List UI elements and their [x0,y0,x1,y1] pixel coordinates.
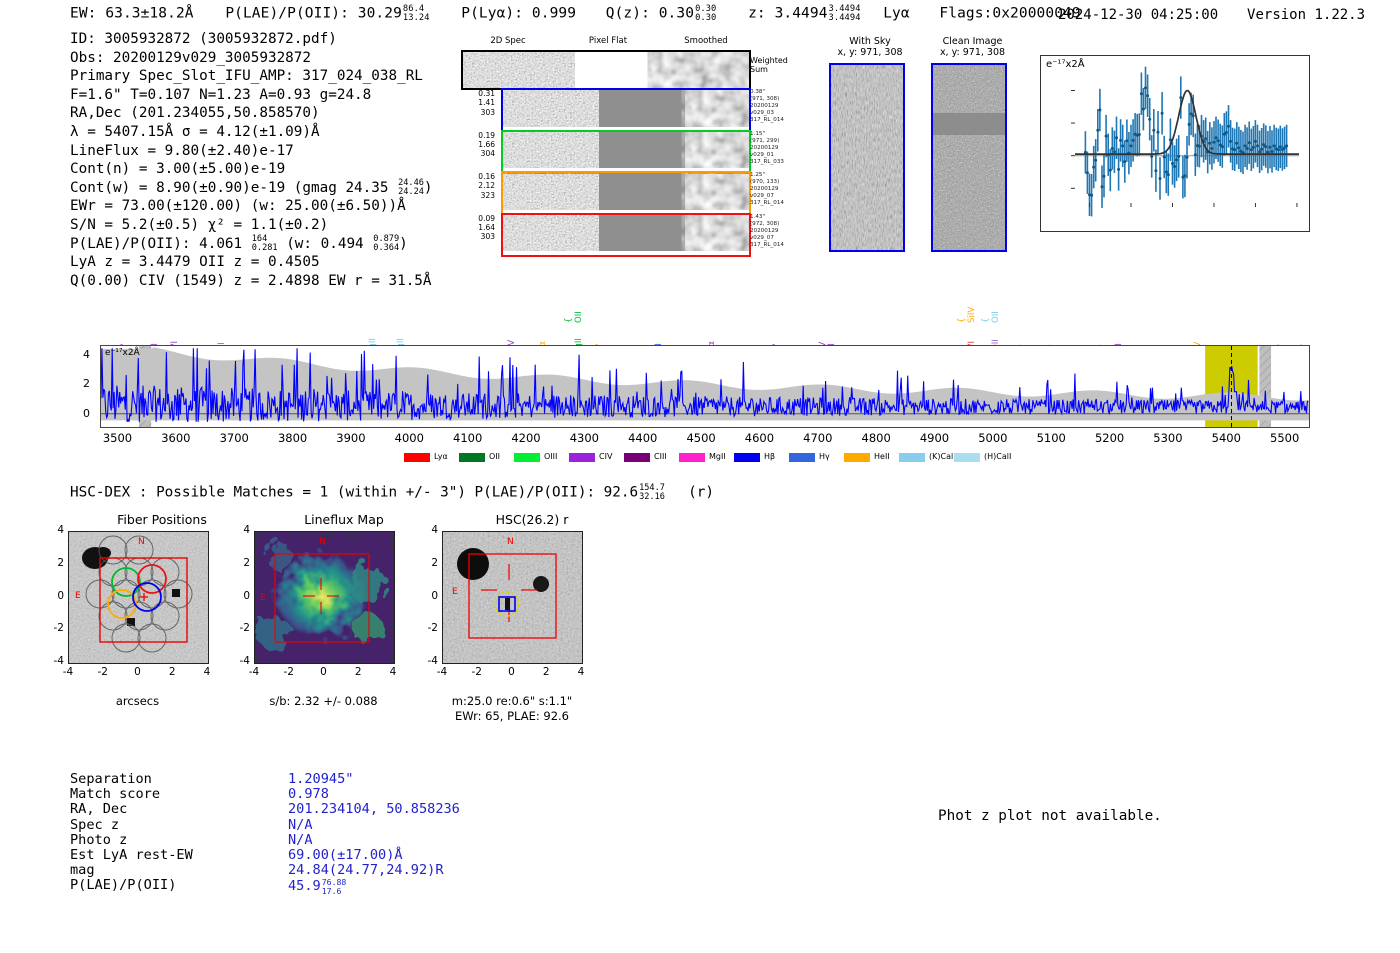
table-row-key: mag [70,863,95,878]
svg-text:E: E [260,593,266,603]
spectrum-x-tick: 4800 [854,431,898,445]
spec2d-row-stat: 303 [461,232,495,241]
elp-tick-labels: -1012536053805400542054405460 [1000,55,1340,255]
spectrum-x-tick: 3900 [329,431,373,445]
panel-y-tick: -4 [230,655,250,667]
header-ew: EW: 63.3±18.2Å [70,6,194,22]
spectrum-y-tick: 2 [74,377,90,390]
cutout-clean-title: Clean Image [925,36,1020,47]
svg-text:N: N [319,537,326,547]
panel-y-tick: 2 [418,557,438,569]
panel-title-fiber-positions: Fiber Positions [62,512,262,527]
spec2d-row-left-labels: 0.162.12323 [461,172,495,200]
panel-x-tick: 2 [344,666,372,678]
info-plae-w-frac: 0.8790.364 [373,235,399,252]
spec2d-row-meta: 20200129 [750,228,820,235]
spec2d-row-stat: 1.41 [461,98,495,107]
col-title-smoothed: Smoothed [660,36,752,46]
spec2d-row-right-labels: 1.43"(972, 308)20200129v029_07317_RL_014 [750,214,820,249]
spectrum-axes: e⁻¹⁷x2Å [100,345,1310,428]
legend-swatch [679,453,705,462]
spec2d-row-meta: 0.38" [750,89,820,96]
source-info-block: ID: 3005932872 (3005932872.pdf) Obs: 202… [70,30,433,290]
summary-header: EW: 63.3±18.2Å P(LAE)/P(OII): 30.2986.41… [70,5,1081,22]
hscdex-match-line: HSC-DEX : Possible Matches = 1 (within +… [70,484,714,501]
spec2d-row-meta: 317_RL_014 [750,242,820,249]
spectrum-x-tick: 4100 [446,431,490,445]
caption-fiber-positions: arcsecs [68,694,207,708]
spec2d-row-right-labels: 0.38"(971, 308)20200129v029_03317_RL_014 [750,89,820,124]
header-plae-frac: 86.413.24 [403,5,430,22]
panel-y-tick: 2 [230,557,250,569]
panel-title-lineflux-map: Lineflux Map [244,512,444,527]
spectrum-x-tick: 5500 [1263,431,1307,445]
hsc-r-image[interactable]: N E [442,531,583,664]
table-row-key: Photo z [70,833,127,848]
cutout-withsky-coords: x, y: 971, 308 [825,47,915,58]
panel-x-tick: 4 [567,666,595,678]
svg-text:N: N [507,537,514,547]
spectrum-line-label: OII [991,311,1001,323]
info-sn-chi2: S/N = 5.2(±0.5) χ² = 1.1(±0.2) [70,216,433,235]
table-row-value: 201.234104, 50.858236 [288,802,460,817]
spec2d-row-right-labels: 1.25"(970, 133)20200129v029_07317_RL_014 [750,172,820,207]
spectrum-x-tick: 4700 [796,431,840,445]
table-row-value: 0.978 [288,787,329,802]
table-row-key: Separation [70,772,152,787]
cutout-withsky-titles: With Sky x, y: 971, 308 [825,36,915,58]
hscdex-frac: 154.732.16 [639,484,665,501]
spec2d-row-meta: v029_07 [750,193,820,200]
spec2d-row-meta: v029_03 [750,110,820,117]
cutout-with-sky-image [829,63,905,252]
cutout-clean-image [931,63,1007,252]
panel-y-tick: -2 [230,622,250,634]
legend-swatch [954,453,980,462]
spectrum-y-tick: 0 [74,407,90,420]
spectrum-line-marker: { [957,318,967,323]
spectrum-line-label: SiIV [967,307,977,323]
spec2d-row-meta: 317_RL_014 [750,200,820,207]
spec2d-row-left-labels: 0.191.66304 [461,131,495,159]
caption-hsc-r-2: EWr: 65, PLAE: 92.6 [432,709,592,723]
svg-text:E: E [452,587,458,597]
info-cont-n: Cont(n) = 3.00(±5.00)e-19 [70,160,433,179]
panel-title-hsc-r: HSC(26.2) r [432,512,632,527]
spectrum-x-tick: 4500 [679,431,723,445]
spectrum-x-tick: 4900 [913,431,957,445]
spec2d-row [501,213,751,257]
table-row-value: N/A [288,833,313,848]
spectrum-x-tick: 4400 [621,431,665,445]
spectrum-x-tick: 4600 [737,431,781,445]
legend-swatch [514,453,540,462]
spectrum-x-tick: 3600 [154,431,198,445]
spec2d-row [501,171,751,215]
hscdex-tail: (r) [688,485,714,501]
info-plae-detail: P(LAE)/P(OII): 4.061 1640.281 (w: 0.494 … [70,235,433,254]
legend-label: Lyα [434,452,448,461]
panel-x-tick: 4 [379,666,407,678]
spectrum-line-labels: {NV{SiII{OVI{CIII{MgII{MgII{SiIV{Lyα{OII… [100,272,1315,350]
spec2d-row-meta: 20200129 [750,145,820,152]
spectrum-x-tick: 3500 [96,431,140,445]
header-species: Lyα [883,6,910,22]
spectrum-x-tick: 4200 [504,431,548,445]
fiber-positions-image[interactable]: N E [68,531,209,664]
table-row-key: P(LAE)/P(OII) [70,878,176,893]
legend-label: (K)CalI [929,452,956,461]
spec2d-row-stat: 0.09 [461,214,495,223]
spectrum-x-tick: 5200 [1088,431,1132,445]
legend-swatch [404,453,430,462]
spec2d-row-meta: 1.25" [750,172,820,179]
spec2d-column-titles: 2D Spec Pixel Flat Smoothed [460,36,760,50]
spec2d-row [501,130,751,174]
panel-x-tick: -4 [54,666,82,678]
panel-x-tick: 2 [532,666,560,678]
legend-label: Hβ [764,452,775,461]
spectrum-line-marker: { [564,318,574,323]
panel-y-tick: -2 [44,622,64,634]
info-ewr: EWr = 73.00(±120.00) (w: 25.00(±6.50))Å [70,197,433,216]
panel-x-tick: -4 [428,666,456,678]
panel-x-tick: -2 [89,666,117,678]
legend-label: CIII [654,452,667,461]
spectrum-legend: LyαOIIOIIICIVCIIIMgIIHβHγHeII(K)CalI(H)C… [404,452,1004,464]
info-cont-w: Cont(w) = 8.90(±0.90)e-19 (gmag 24.35 24… [70,179,433,198]
spec2d-row-meta: 1.43" [750,214,820,221]
spec2d-rows: 0.311.413030.38"(971, 308)20200129v029_0… [461,88,751,254]
panel-y-tick: -4 [418,655,438,667]
panel-x-tick: 2 [158,666,186,678]
header-qz-frac: 0.300.30 [695,5,716,22]
spec2d-row-meta: v029_07 [750,235,820,242]
spec2d-row-stat: 1.66 [461,140,495,149]
header-plya: P(Lyα): 0.999 [461,6,576,22]
col-title-2dspec: 2D Spec [460,36,556,46]
spec2d-row-meta: (970, 133) [750,179,820,186]
legend-label: MgII [709,452,726,461]
info-plae-frac: 1640.281 [252,235,278,252]
spec2d-row-left-labels: 0.311.41303 [461,89,495,117]
spec2d-row-meta: 20200129 [750,186,820,193]
header-version: Version 1.22.3 [1247,7,1365,23]
spec2d-row-meta: 20200129 [750,103,820,110]
spectrum-x-tick: 4300 [562,431,606,445]
photz-note: Phot z plot not available. [938,808,1162,824]
spec2d-row-right-labels: 1.15"(971, 299)20200129v029_01317_RL_033 [750,131,820,166]
spec2d-row-stat: 1.64 [461,223,495,232]
spec2d-row-stat: 2.12 [461,181,495,190]
panel-y-tick: 0 [418,590,438,602]
spectrum-y-ticks: 024 [74,345,96,430]
info-obs: Obs: 20200129v029_3005932872 [70,49,433,68]
spectrum-x-tick: 5000 [971,431,1015,445]
table-row-key: Match score [70,787,160,802]
panel-x-tick: 0 [310,666,338,678]
legend-label: OII [489,452,500,461]
panel-x-tick: -4 [240,666,268,678]
full-spectrum-plot: e⁻¹⁷x2Å [100,345,1310,428]
caption-lineflux-map: s/b: 2.32 +/- 0.088 [254,694,393,708]
spec2d-row-meta: (971, 299) [750,138,820,145]
svg-text:E: E [75,591,81,601]
spec2d-row-stat: 323 [461,191,495,200]
cutout-withsky-title: With Sky [825,36,915,47]
legend-swatch [844,453,870,462]
spec2d-row-meta: v029_01 [750,152,820,159]
header-qz: Q(z): 0.30 [606,6,694,22]
legend-swatch [899,453,925,462]
legend-label: Hγ [819,452,830,461]
info-lambda-sigma: λ = 5407.15Å σ = 4.12(±1.09)Å [70,123,433,142]
spec2d-row-stat: 0.19 [461,131,495,140]
info-redshifts: LyA z = 3.4479 OII z = 0.4505 [70,253,433,272]
header-z: z: 3.4494 [748,6,827,22]
panel-y-tick: 0 [230,590,250,602]
header-timestamp-block: 2024-12-30 04:25:00 Version 1.22.3 [1058,7,1365,23]
spec2d-row [501,88,751,132]
spectrum-x-tick: 5300 [1146,431,1190,445]
legend-swatch [624,453,650,462]
hscdex-text: HSC-DEX : Possible Matches = 1 (within +… [70,485,638,501]
panel-x-tick: 0 [498,666,526,678]
panel-y-tick: 0 [44,590,64,602]
table-row-key: RA, Dec [70,802,127,817]
panel-x-tick: 4 [193,666,221,678]
legend-label: (H)CalI [984,452,1011,461]
spec2d-row-left-labels: 0.091.64303 [461,214,495,242]
info-lineflux: LineFlux = 9.80(±2.40)e-17 [70,142,433,161]
spectrum-x-tick: 3700 [212,431,256,445]
legend-swatch [459,453,485,462]
info-id: ID: 3005932872 (3005932872.pdf) [70,30,433,49]
weighted-sum-image [463,52,749,88]
table-row-value: 69.00(±17.00)Å [288,848,403,863]
table-row-key: Spec z [70,818,119,833]
spectrum-x-tick: 5100 [1029,431,1073,445]
spec2d-weighted-sum-strip [461,50,751,90]
header-plae: P(LAE)/P(OII): 30.29 [225,6,402,22]
spectrum-units-label: e⁻¹⁷x2Å [105,348,140,358]
table-row-value: 1.20945" [288,772,353,787]
info-radec: RA,Dec (201.234055,50.858570) [70,104,433,123]
spectrum-x-tick: 5400 [1204,431,1248,445]
table-row-key: Est LyA rest-EW [70,848,193,863]
info-params: F=1.6" T=0.107 N=1.23 A=0.93 g=24.8 [70,86,433,105]
spectrum-canvas [101,346,1309,427]
table-row-value: 45.976.8817.6 [288,878,346,894]
spectrum-line-label: OII [574,311,584,323]
spec2d-row-meta: (971, 308) [750,96,820,103]
header-datetime: 2024-12-30 04:25:00 [1058,7,1218,23]
svg-text:N: N [138,537,145,547]
table-row-value: 24.84(24.77,24.92)R [288,863,444,878]
spec2d-row-stat: 303 [461,108,495,117]
header-z-frac: 3.44943.4494 [829,5,861,22]
spec2d-row-stat: 304 [461,149,495,158]
weighted-sum-label: WeightedSum [750,56,788,74]
legend-swatch [789,453,815,462]
panel-x-tick: -2 [463,666,491,678]
legend-swatch [734,453,760,462]
col-title-pixelflat: Pixel Flat [558,36,658,46]
panel-x-tick: -2 [275,666,303,678]
info-primary-spec: Primary Spec_Slot_IFU_AMP: 317_024_038_R… [70,67,433,86]
panel-x-tick: 0 [124,666,152,678]
legend-label: CIV [599,452,612,461]
spec2d-row-meta: (972, 308) [750,221,820,228]
panel-y-tick: 2 [44,557,64,569]
panel-y-tick: -4 [44,655,64,667]
info-gmag-frac: 24.4624.24 [398,179,424,196]
spec2d-row-meta: 317_RL_014 [750,117,820,124]
legend-swatch [569,453,595,462]
spec2d-row-stat: 0.31 [461,89,495,98]
spectrum-y-tick: 4 [74,348,90,361]
panel-y-tick: -2 [418,622,438,634]
spec2d-row-meta: 317_RL_033 [750,159,820,166]
legend-label: OIII [544,452,557,461]
spectrum-line-marker: { [981,318,991,323]
spectrum-x-tick: 4000 [387,431,431,445]
caption-hsc-r-1: m:25.0 re:0.6" s:1.1" [432,694,592,708]
lineflux-map-image[interactable]: E N [254,531,395,664]
panel-y-tick: 4 [44,524,64,536]
spectrum-x-tick: 3800 [271,431,315,445]
spec2d-row-stat: 0.16 [461,172,495,181]
legend-label: HeII [874,452,890,461]
table-row-value: N/A [288,818,313,833]
spec2d-row-meta: 1.15" [750,131,820,138]
